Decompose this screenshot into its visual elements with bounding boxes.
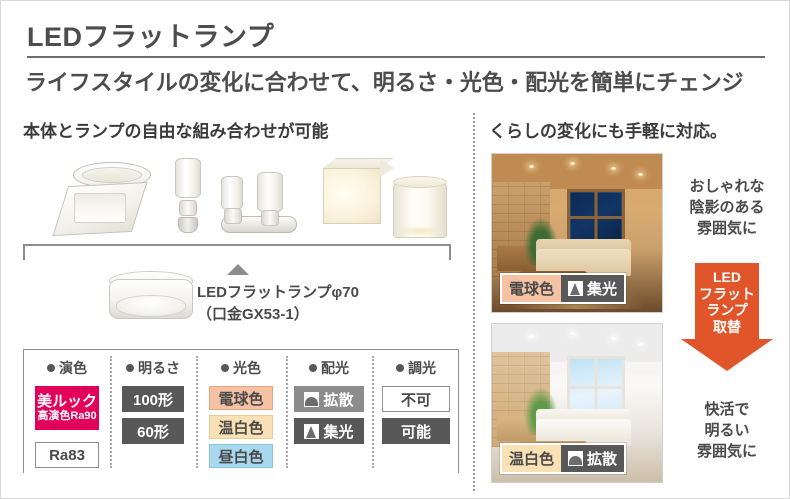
focus-icon: [568, 281, 583, 296]
caption-top-line3: 雰囲気に: [669, 218, 785, 239]
title-divider: [27, 56, 765, 58]
chip-ra83[interactable]: Ra83: [35, 442, 99, 468]
bullet-icon: [126, 364, 134, 372]
arrow-label-line4: 取替: [681, 319, 773, 336]
spec-column-light-color: 光色 電球色 温白色 昼白色: [196, 350, 286, 474]
diffuse-icon: [304, 392, 319, 407]
caption-bottom-line1: 快活で: [669, 399, 785, 420]
lamp-replacement-arrow: LED フラット ランプ 取替: [681, 263, 773, 371]
arrow-label: LED フラット ランプ 取替: [681, 269, 773, 335]
infographic-page: LEDフラットランプ ライフスタイルの変化に合わせて、明るさ・光色・配光を簡単に…: [0, 0, 790, 499]
spec-header-light-color: 光色: [221, 358, 261, 378]
caption-top-line2: 陰影のある: [669, 197, 785, 218]
spec-column-dimming: 調光 不可 可能: [372, 350, 460, 474]
focus-icon: [304, 424, 319, 439]
caption-bottom-line3: 雰囲気に: [669, 441, 785, 462]
arrow-head-icon: [681, 339, 773, 371]
page-subtitle: ライフスタイルの変化に合わせて、明るさ・光色・配光を簡単にチェンジ: [25, 65, 743, 97]
chip-kakusan[interactable]: 拡散: [294, 386, 364, 412]
flat-lamp-illustration: [109, 269, 193, 327]
fixture-group-brace: [23, 244, 451, 260]
chip-onhakushoku[interactable]: 温白色: [209, 415, 273, 439]
window-night: [567, 189, 625, 246]
chip-60kei[interactable]: 60形: [122, 418, 184, 444]
photo-bright-daytime-room: 温白色 拡散: [491, 323, 663, 483]
single-spotlight-icon: [173, 158, 201, 233]
page-title: LEDフラットランプ: [27, 15, 274, 54]
arrow-label-line2: フラット: [681, 286, 773, 303]
badge-light-color-bottom: 温白色: [502, 445, 561, 472]
caption-top-line1: おしゃれな: [669, 176, 785, 197]
photo-badge-top: 電球色 集光: [500, 273, 626, 304]
spec-header-color-rendering: 演色: [47, 358, 87, 378]
chip-birooku[interactable]: 美ルック 高演色Ra90: [35, 386, 99, 430]
double-spotlight-icon: [221, 172, 297, 233]
spec-header-dimming: 調光: [396, 358, 436, 378]
caption-bottom-line2: 明るい: [669, 420, 785, 441]
caption-top: おしゃれな 陰影のある 雰囲気に: [669, 176, 785, 239]
spec-column-color-rendering: 演色 美ルック 高演色Ra90 Ra83: [24, 350, 110, 474]
chip-hakushoku[interactable]: 昼白色: [209, 444, 273, 468]
spec-header-brightness: 明るさ: [126, 358, 180, 378]
chip-fuka[interactable]: 不可: [382, 386, 450, 412]
lamp-caption-line1: LEDフラットランプφ70: [197, 282, 359, 304]
section-divider: [473, 113, 475, 491]
lamp-caption: LEDフラットランプφ70 （口金GX53-1）: [197, 282, 359, 326]
caption-bottom: 快活で 明るい 雰囲気に: [669, 399, 785, 462]
bullet-icon: [47, 364, 55, 372]
spec-header-distribution: 配光: [309, 358, 349, 378]
badge-distribution-bottom: 拡散: [561, 445, 624, 472]
cylinder-bracket-light-icon: [393, 182, 447, 238]
bullet-icon: [396, 364, 404, 372]
spec-column-distribution: 配光 拡散 集光: [286, 350, 372, 474]
spec-table: 演色 美ルック 高演色Ra90 Ra83 明るさ 100形 60形 光色 電球色…: [23, 349, 459, 473]
left-section-heading: 本体とランプの自由な組み合わせが可能: [23, 117, 329, 142]
fixture-illustrations: [21, 156, 461, 251]
chip-kanou[interactable]: 可能: [382, 418, 450, 444]
bullet-icon: [309, 364, 317, 372]
chip-100kei[interactable]: 100形: [122, 386, 184, 412]
lamp-caption-line2: （口金GX53-1）: [197, 304, 359, 326]
brace-pointer-triangle: [227, 264, 249, 275]
diffuse-icon: [568, 451, 583, 466]
chip-denkyuushoku[interactable]: 電球色: [209, 386, 273, 410]
bullet-icon: [221, 364, 229, 372]
photo-badge-bottom: 温白色 拡散: [500, 443, 626, 474]
badge-distribution-top: 集光: [561, 275, 624, 302]
spec-column-brightness: 明るさ 100形 60形: [110, 350, 196, 474]
photo-warm-evening-room: 電球色 集光: [491, 153, 663, 313]
chip-shuukou[interactable]: 集光: [294, 418, 364, 444]
badge-light-color-top: 電球色: [502, 275, 561, 302]
cube-bracket-light-icon: [323, 168, 381, 224]
square-downlight-icon: [61, 184, 139, 234]
right-section-heading: くらしの変化にも手軽に対応。: [489, 117, 727, 142]
arrow-label-line3: ランプ: [681, 302, 773, 319]
arrow-label-line1: LED: [681, 269, 773, 286]
